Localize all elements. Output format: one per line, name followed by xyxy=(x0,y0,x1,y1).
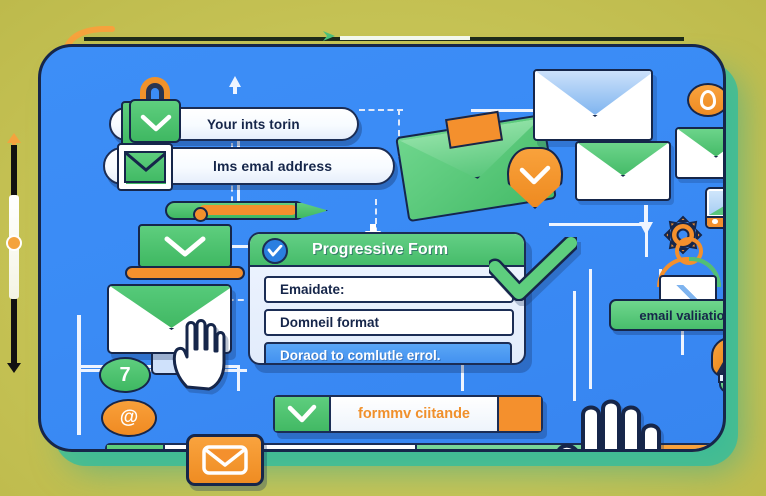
envelope-icon xyxy=(675,127,723,179)
connector-line xyxy=(77,315,81,435)
drop-icon xyxy=(687,83,723,117)
progressive-form-header: Progressive Form xyxy=(250,234,524,267)
badge-label: 7 xyxy=(119,364,130,387)
pen-tip-dot xyxy=(193,207,208,222)
form-row-label: Domneil format xyxy=(280,315,379,330)
check-icon xyxy=(489,237,577,306)
email-validation-text: email valiiatio xyxy=(639,308,723,323)
progressive-form-panel[interactable]: Progressive Form Emaidate: Domneil forma… xyxy=(248,232,526,365)
slider-knob-icon[interactable] xyxy=(6,235,22,251)
laptop-icon xyxy=(125,224,245,280)
form-validate-label: formmv ciitande xyxy=(331,406,497,422)
connector-dashed xyxy=(359,109,403,111)
connector-line xyxy=(237,365,240,391)
field-label: Your ints torin xyxy=(207,117,300,132)
envelope-icon xyxy=(117,143,173,191)
connector-line xyxy=(549,223,645,226)
hand-cursor-icon xyxy=(541,399,667,449)
check-icon xyxy=(107,445,165,449)
hand-cursor-icon xyxy=(167,317,229,391)
connector-line xyxy=(589,269,592,389)
form-validate-row[interactable]: formmv ciitande xyxy=(273,395,543,433)
row-accent-block xyxy=(497,397,541,431)
padlock-icon xyxy=(129,77,181,143)
lightbulb-icon xyxy=(709,337,723,393)
double-check-icon xyxy=(721,445,723,449)
connector-line xyxy=(573,291,576,401)
top-rule-highlight xyxy=(340,36,470,40)
arrow-down-icon[interactable] xyxy=(5,358,23,379)
form-row-label: Doraod to comlutle errol. xyxy=(280,348,441,363)
page-title: Progressive Form xyxy=(312,241,448,259)
email-validation-label: email valiiatio xyxy=(609,299,723,331)
envelope-icon xyxy=(533,69,653,141)
form-row-domneil-format[interactable]: Domneil format xyxy=(264,309,514,336)
check-circle-icon xyxy=(262,238,288,264)
check-icon xyxy=(275,397,331,431)
monitor-icon xyxy=(705,187,723,229)
arrow-up-icon xyxy=(227,75,243,100)
envelope-icon xyxy=(575,141,671,201)
badge-label: @ xyxy=(120,407,139,429)
form-row-error: Doraod to comlutle errol. xyxy=(264,342,512,365)
at-badge[interactable]: @ xyxy=(101,399,157,437)
form-row-label: Emaidate: xyxy=(280,282,345,297)
pen-icon xyxy=(165,200,328,222)
envelope-icon[interactable] xyxy=(186,434,264,486)
illustration-canvas: Your ints torin lms emal address xyxy=(0,0,766,496)
main-card: Your ints torin lms emal address xyxy=(38,44,726,452)
step-badge-7[interactable]: 7 xyxy=(99,357,151,393)
form-row-emaidate[interactable]: Emaidate: xyxy=(264,276,514,303)
field-label: lms emal address xyxy=(213,158,332,174)
